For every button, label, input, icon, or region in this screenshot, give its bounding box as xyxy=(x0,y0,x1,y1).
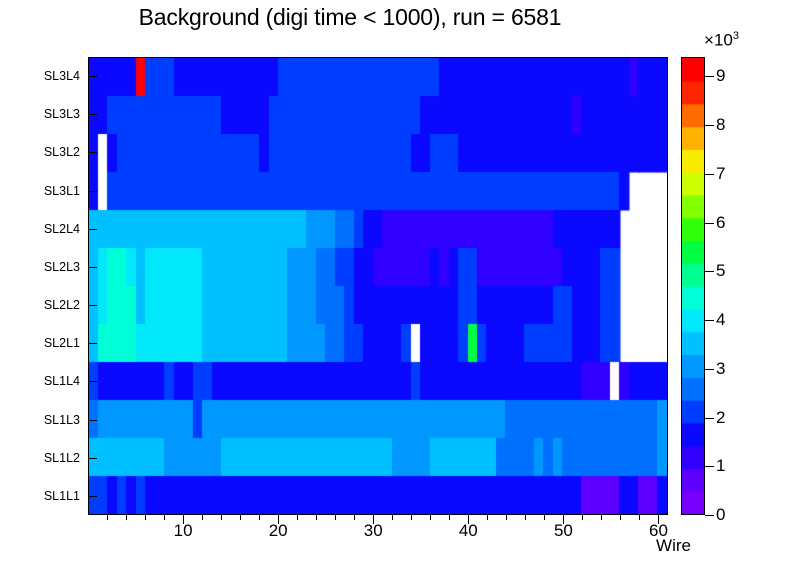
y-axis-tick xyxy=(88,152,97,153)
y-axis-label-sl2l1: SL2L1 xyxy=(10,337,80,349)
x-axis-tick xyxy=(449,515,450,520)
colorbar-tick xyxy=(705,320,714,321)
y-axis-tick xyxy=(88,267,97,268)
x-axis-tick xyxy=(354,515,355,520)
y-axis-tick xyxy=(88,76,97,77)
colorbar-exponent-base: 10 xyxy=(714,31,733,50)
y-axis-tick xyxy=(88,343,97,344)
colorbar-tick xyxy=(705,125,714,126)
colorbar-tick-label-1: 1 xyxy=(716,456,725,476)
x-axis-tick xyxy=(202,515,203,520)
y-axis-label-sl1l3: SL1L3 xyxy=(10,414,80,426)
colorbar-tick-label-3: 3 xyxy=(716,359,725,379)
colorbar-tick-label-0: 0 xyxy=(716,505,725,525)
x-axis-tick xyxy=(259,515,260,520)
x-axis-tick xyxy=(297,515,298,520)
x-axis-tick xyxy=(544,515,545,520)
colorbar-tick xyxy=(705,515,714,516)
colorbar-multiplier-symbol: × xyxy=(704,31,714,50)
colorbar[interactable] xyxy=(681,57,705,515)
x-axis-tick xyxy=(487,515,488,520)
x-axis-tick xyxy=(107,515,108,520)
y-axis-label-sl3l3: SL3L3 xyxy=(10,108,80,120)
x-axis-tick xyxy=(221,515,222,520)
x-axis-tick xyxy=(392,515,393,520)
x-axis-tick xyxy=(411,515,412,520)
colorbar-tick-label-6: 6 xyxy=(716,213,725,233)
x-axis-tick xyxy=(430,515,431,520)
y-axis-label-sl1l2: SL1L2 xyxy=(10,452,80,464)
y-axis-label-sl3l1: SL3L1 xyxy=(10,185,80,197)
colorbar-tick-label-5: 5 xyxy=(716,261,725,281)
x-axis-tick xyxy=(525,515,526,520)
y-axis-tick xyxy=(88,458,97,459)
colorbar-tick xyxy=(705,466,714,467)
colorbar-tick xyxy=(705,418,714,419)
heatmap-cells[interactable] xyxy=(89,58,667,514)
colorbar-tick xyxy=(705,271,714,272)
colorbar-tick-label-2: 2 xyxy=(716,408,725,428)
y-axis-tick xyxy=(88,496,97,497)
heatmap-frame xyxy=(88,57,668,515)
colorbar-exponent-power: 3 xyxy=(733,30,739,42)
colorbar-tick xyxy=(705,369,714,370)
y-axis-tick xyxy=(88,305,97,306)
colorbar-exponent: ×103 xyxy=(704,30,739,51)
heatmap-image[interactable] xyxy=(89,58,667,514)
y-axis-label-sl2l4: SL2L4 xyxy=(10,223,80,235)
y-axis-tick xyxy=(88,191,97,192)
x-axis-title: Wire xyxy=(0,536,691,556)
colorbar-frame xyxy=(681,57,705,515)
x-axis-tick xyxy=(335,515,336,520)
y-axis-label-sl2l3: SL2L3 xyxy=(10,261,80,273)
colorbar-tick-label-9: 9 xyxy=(716,66,725,86)
y-axis-tick xyxy=(88,114,97,115)
x-axis-tick xyxy=(506,515,507,520)
root-canvas: Background (digi time < 1000), run = 658… xyxy=(0,0,796,572)
y-axis-label-sl1l4: SL1L4 xyxy=(10,375,80,387)
colorbar-tick-label-8: 8 xyxy=(716,115,725,135)
y-axis-label-sl1l1: SL1L1 xyxy=(10,490,80,502)
x-axis-tick xyxy=(620,515,621,520)
x-axis-tick xyxy=(164,515,165,520)
y-axis-labels: SL3L4SL3L3SL3L2SL3L1SL2L4SL2L3SL2L2SL2L1… xyxy=(8,57,80,515)
y-axis-tick xyxy=(88,229,97,230)
colorbar-tick xyxy=(705,223,714,224)
x-axis-tick xyxy=(316,515,317,520)
page-title: Background (digi time < 1000), run = 658… xyxy=(0,4,700,31)
colorbar-tick xyxy=(705,174,714,175)
colorbar-tick-label-4: 4 xyxy=(716,310,725,330)
x-axis-tick xyxy=(601,515,602,520)
x-axis-tick xyxy=(240,515,241,520)
y-axis-label-sl3l2: SL3L2 xyxy=(10,146,80,158)
y-axis-tick xyxy=(88,420,97,421)
y-axis-label-sl3l4: SL3L4 xyxy=(10,70,80,82)
x-axis-tick xyxy=(582,515,583,520)
y-axis-label-sl2l2: SL2L2 xyxy=(10,299,80,311)
x-axis-tick xyxy=(126,515,127,520)
colorbar-tick-label-7: 7 xyxy=(716,164,725,184)
colorbar-tick xyxy=(705,76,714,77)
x-axis-tick xyxy=(145,515,146,520)
colorbar-gradient xyxy=(682,58,704,514)
y-axis-tick xyxy=(88,381,97,382)
x-axis-tick xyxy=(639,515,640,520)
